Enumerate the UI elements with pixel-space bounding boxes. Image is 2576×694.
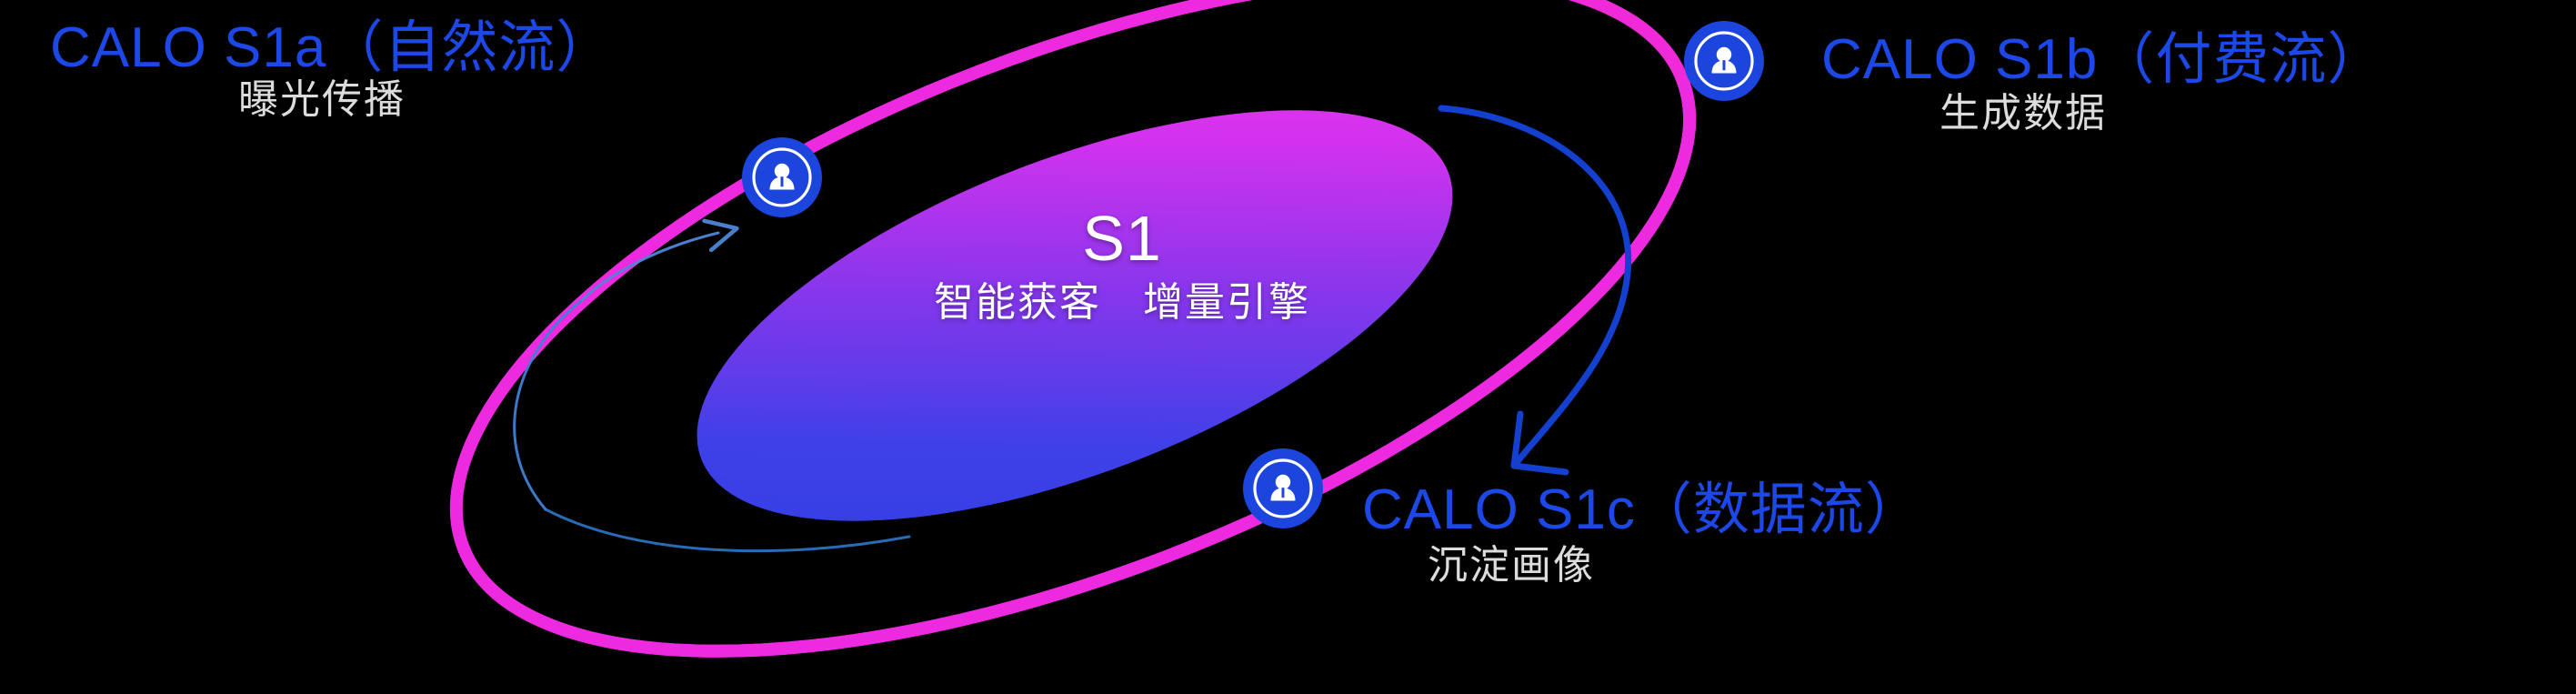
node-s1c[interactable] <box>1243 448 1323 528</box>
node-s1a-subtitle: 曝光传播 <box>238 80 406 120</box>
node-s1b[interactable] <box>1684 21 1764 101</box>
core-label: S1 <box>849 206 1395 270</box>
clockwise-arrow-right-head <box>1514 414 1566 472</box>
node-s1c-title: CALO S1c（数据流） <box>1362 482 1922 538</box>
node-s1b-subtitle: 生成数据 <box>1940 94 2107 134</box>
core-tagline: 智能获客 增量引擎 <box>849 283 1395 323</box>
node-s1a-title: CALO S1a（自然流） <box>50 20 613 76</box>
diagram-canvas: S1 智能获客 增量引擎 CALO S1a（自然流） 曝光传播 CALO S1b… <box>0 0 2576 694</box>
core-label-block: S1 智能获客 增量引擎 <box>849 206 1395 323</box>
node-s1b-title: CALO S1b（付费流） <box>1821 32 2384 88</box>
node-s1c-subtitle: 沉淀画像 <box>1428 546 1595 586</box>
node-s1a[interactable] <box>742 137 822 217</box>
